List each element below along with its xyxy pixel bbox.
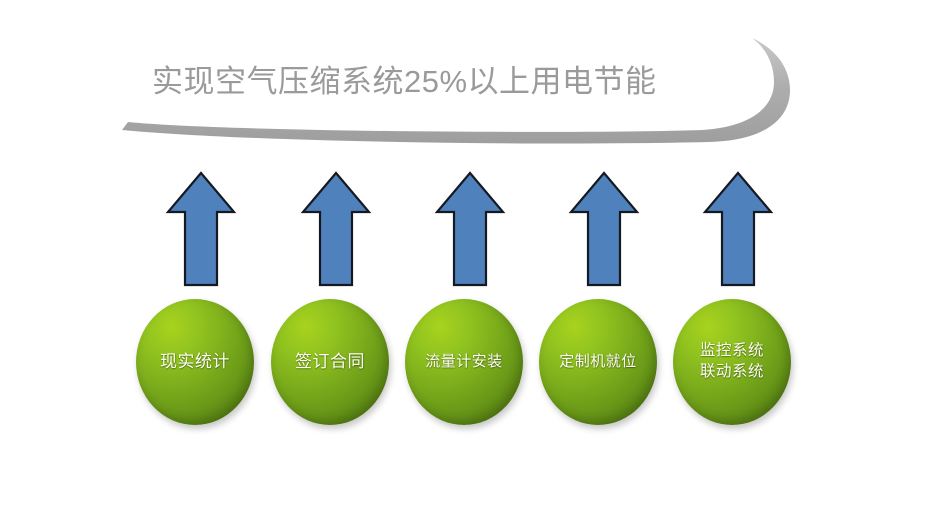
arrow-up-icon-4	[568, 170, 640, 288]
step-circle-1[interactable]: 现实统计	[136, 299, 254, 425]
page-title: 实现空气压缩系统25%以上用电节能	[152, 52, 752, 112]
title-banner: 实现空气压缩系统25%以上用电节能	[110, 34, 790, 144]
arrow-up-icon-3	[434, 170, 506, 288]
arrow-up-icon-2	[300, 170, 372, 288]
step-label-4: 定制机就位	[555, 352, 641, 371]
step-circle-5[interactable]: 监控系统 联动系统	[673, 299, 791, 425]
step-label-5: 监控系统 联动系统	[696, 341, 768, 383]
slide-canvas: 实现空气压缩系统25%以上用电节能 现实统计 签订合同 流量计安装 定制机就位 …	[0, 0, 945, 529]
step-label-1: 现实统计	[156, 351, 234, 373]
step-circle-2[interactable]: 签订合同	[271, 299, 389, 425]
step-label-3: 流量计安装	[421, 352, 507, 371]
step-label-2: 签订合同	[291, 351, 369, 373]
step-circle-4[interactable]: 定制机就位	[539, 299, 657, 425]
step-circle-3[interactable]: 流量计安装	[405, 299, 523, 425]
arrow-up-icon-5	[702, 170, 774, 288]
arrow-up-icon-1	[165, 170, 237, 288]
